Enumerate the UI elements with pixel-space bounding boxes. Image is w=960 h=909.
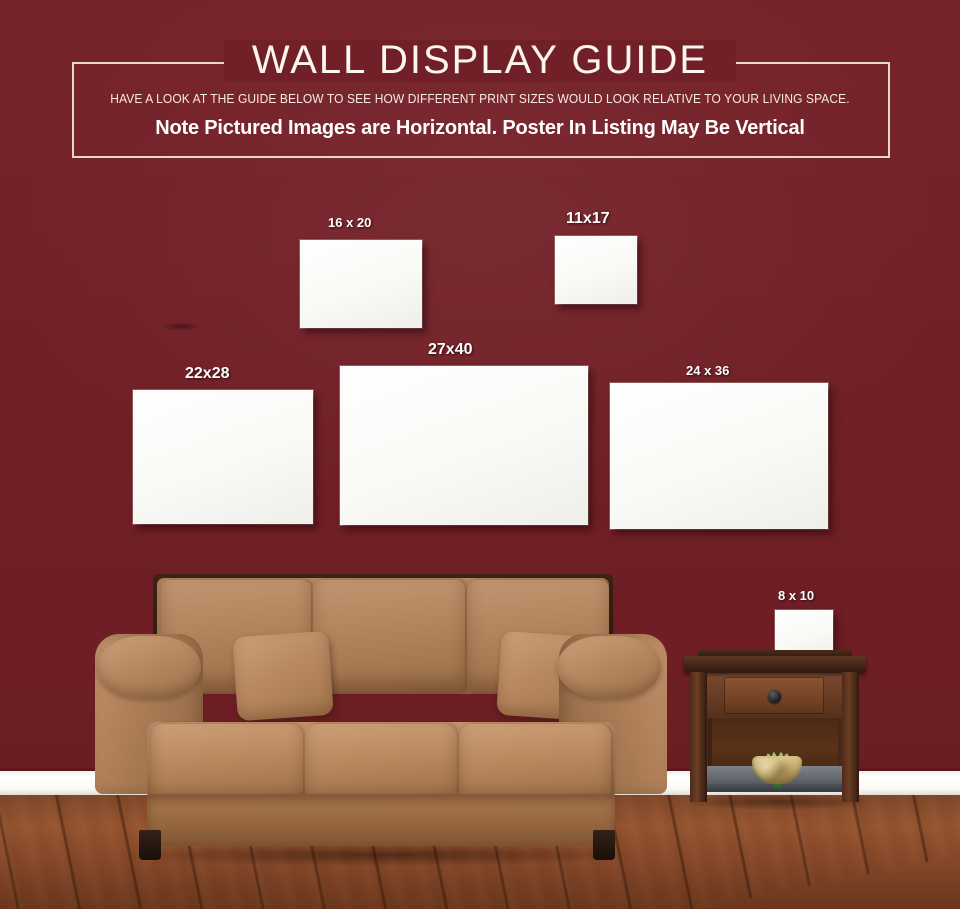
sofa-arm-roll-left <box>97 636 201 698</box>
sofa-shadow <box>123 844 643 866</box>
sofa-seat-cushion <box>151 724 303 802</box>
sofa-base-rail <box>147 794 615 846</box>
sofa-seat-cushion <box>459 724 611 802</box>
poster-label: 27x40 <box>428 341 473 359</box>
poster-label: 16 x 20 <box>328 215 371 230</box>
poster-label: 11x17 <box>566 210 610 228</box>
sofa-back-cushion <box>313 580 465 692</box>
sofa-leg <box>139 830 161 860</box>
side-table-top <box>684 656 866 673</box>
poster-frame-27x40 <box>340 366 588 525</box>
sofa-seat-cushion <box>305 724 457 802</box>
wall-display-guide-image: WALL DISPLAY GUIDE HAVE A LOOK AT THE GU… <box>0 0 960 909</box>
plant-pot <box>752 756 802 784</box>
drawer-knob-icon[interactable] <box>768 690 781 703</box>
sofa <box>95 572 667 840</box>
page-title: WALL DISPLAY GUIDE <box>0 40 960 80</box>
poster-label: 24 x 36 <box>686 363 729 378</box>
sofa-leg <box>593 830 615 860</box>
poster-frame-16x20 <box>300 240 422 328</box>
poster-frame-11x17 <box>555 236 637 304</box>
side-table-leg-front-left <box>690 672 707 802</box>
potted-plant <box>740 718 814 784</box>
poster-label: 22x28 <box>185 365 230 383</box>
poster-label: 8 x 10 <box>778 588 814 603</box>
wall-smudge <box>160 322 202 331</box>
poster-frame-24x36 <box>610 383 828 529</box>
sofa-arm-roll-right <box>557 636 661 698</box>
page-title-text: WALL DISPLAY GUIDE <box>252 38 708 82</box>
header-subtitle-primary: HAVE A LOOK AT THE GUIDE BELOW TO SEE HO… <box>19 92 941 106</box>
header-subtitle-secondary: Note Pictured Images are Horizontal. Pos… <box>0 117 960 140</box>
side-table-leg-front-right <box>842 672 859 802</box>
poster-frame-22x28 <box>133 390 313 524</box>
throw-pillow <box>232 631 334 721</box>
